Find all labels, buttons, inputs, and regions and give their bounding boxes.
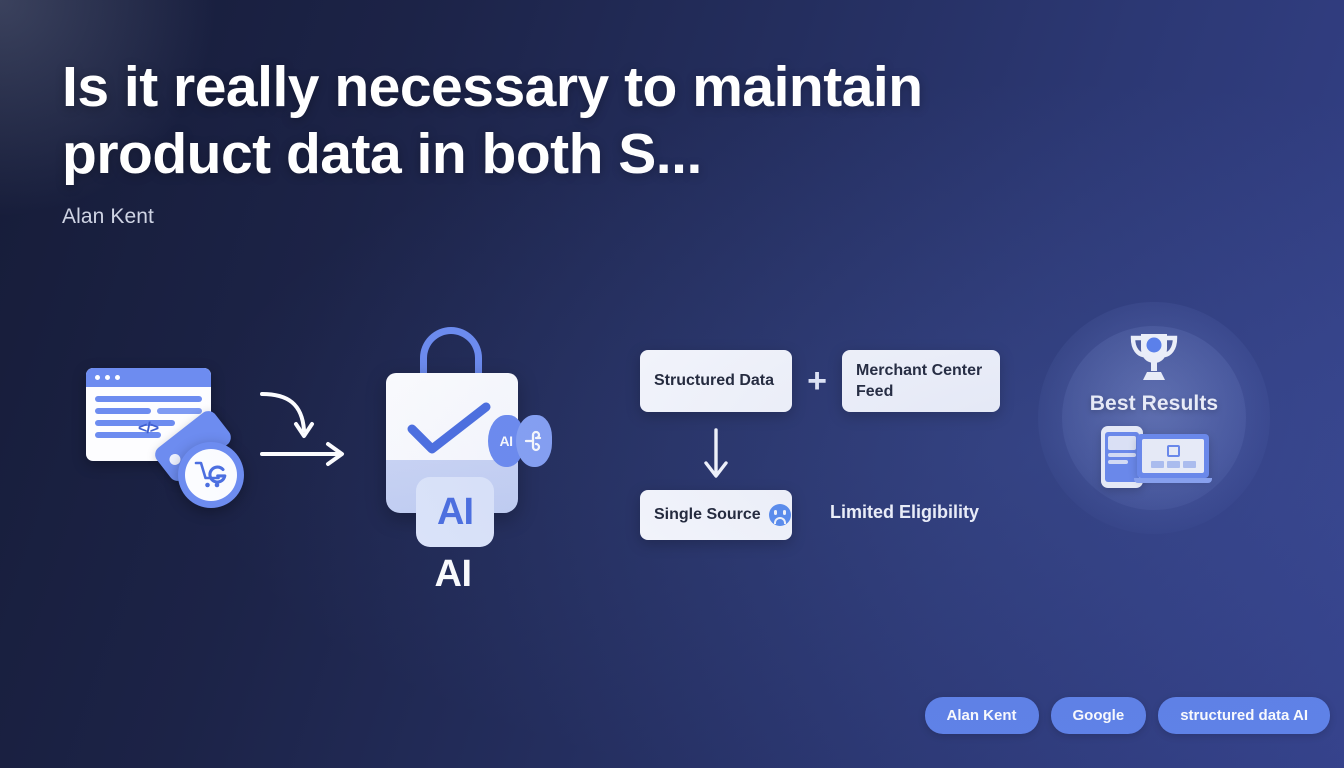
page-title: Is it really necessary to maintain produ… <box>62 54 1062 187</box>
screen-product-cell <box>1167 461 1180 468</box>
header: Is it really necessary to maintain produ… <box>62 54 1062 229</box>
ai-chip-badge: AI <box>416 477 494 547</box>
sad-face-icon <box>769 504 791 526</box>
window-dot-icon <box>105 375 110 380</box>
content-row <box>95 408 202 414</box>
limited-eligibility-label: Limited Eligibility <box>830 502 979 523</box>
brain-ai-label: AI <box>500 433 513 449</box>
phone-image-block <box>1108 436 1136 450</box>
phone-line <box>1108 453 1136 457</box>
screen-product-cell <box>1151 461 1164 468</box>
content-line <box>95 420 175 426</box>
checkmark-icon <box>412 407 486 449</box>
content-line <box>95 408 151 414</box>
orb-content: Best Results <box>1038 302 1270 534</box>
laptop-screen <box>1142 439 1204 473</box>
flow-arrows <box>258 390 350 472</box>
laptop-base <box>1134 478 1212 483</box>
phone-line <box>1108 460 1128 464</box>
laptop-icon <box>1137 434 1213 488</box>
code-brackets-icon: </> <box>138 420 158 438</box>
tag-pill-author[interactable]: Alan Kent <box>925 697 1039 734</box>
merchant-center-feed-box: Merchant Center Feed <box>842 350 1000 412</box>
plus-icon: + <box>800 366 834 396</box>
best-results-orb: Best Results <box>1038 302 1270 534</box>
ai-shopping-bag-illustration: AI AI AI <box>378 305 578 605</box>
ai-brain-icon: AI <box>488 415 554 467</box>
cart-glyph <box>185 449 237 501</box>
data-flow-panel: Structured Data + Merchant Center Feed S… <box>640 290 1020 560</box>
content-line <box>95 396 202 402</box>
window-dot-icon <box>115 375 120 380</box>
single-source-label: Single Source <box>654 504 761 525</box>
single-source-box: Single Source <box>640 490 792 540</box>
content-line <box>157 408 202 414</box>
phone-laptop-icon <box>1095 426 1213 488</box>
author-name: Alan Kent <box>62 205 1062 229</box>
slide-background: Is it really necessary to maintain produ… <box>0 0 1344 768</box>
structured-data-source-illustration: </> <box>78 368 263 493</box>
structured-data-box: Structured Data <box>640 350 792 412</box>
down-arrow-icon <box>696 428 736 482</box>
tag-pill-google[interactable]: Google <box>1051 697 1147 734</box>
browser-titlebar <box>86 368 211 387</box>
best-results-label: Best Results <box>1090 392 1218 416</box>
diagram: </> <box>0 290 1344 620</box>
screen-product-row <box>1151 461 1196 468</box>
window-dot-icon <box>95 375 100 380</box>
tag-pill-topic[interactable]: structured data AI <box>1158 697 1330 734</box>
laptop-lid <box>1137 434 1209 478</box>
tag-bar: Alan Kent Google structured data AI <box>925 697 1331 734</box>
screen-product-cell <box>1183 461 1196 468</box>
ai-caption: AI <box>378 553 528 596</box>
screen-bag-glyph <box>1167 445 1180 457</box>
phone-screen <box>1105 432 1139 482</box>
google-shopping-cart-icon <box>178 442 244 508</box>
brain-right-lobe <box>516 415 552 467</box>
trophy-icon <box>1125 330 1183 384</box>
